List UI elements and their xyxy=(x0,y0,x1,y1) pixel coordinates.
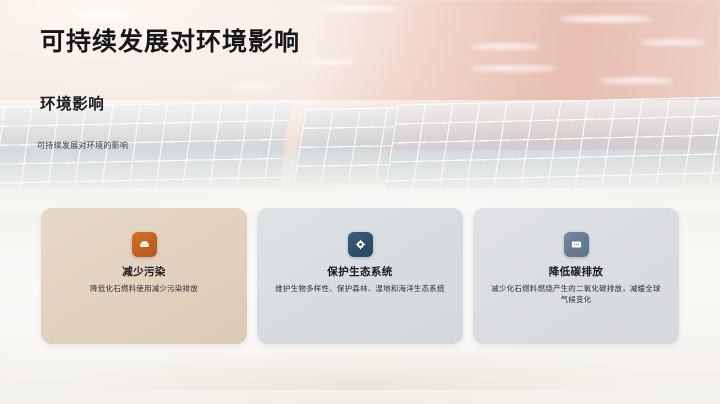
section-heading: 环境影响 xyxy=(40,92,104,114)
card-title: 保护生态系统 xyxy=(327,266,392,279)
panel-sheen-overlay xyxy=(0,100,720,140)
cloud-shape xyxy=(600,78,674,83)
message-icon xyxy=(564,232,589,257)
feature-card-protect-ecosystem[interactable]: 保护生态系统 维护生物多样性、保护森林、湿地和海洋生态系统 xyxy=(257,208,463,344)
cloud-shape xyxy=(640,40,706,45)
cloud-shape xyxy=(72,12,136,18)
cloud-shape xyxy=(560,16,652,22)
cloud-shape xyxy=(228,84,280,88)
cloud-shape xyxy=(470,66,556,71)
feature-card-list: 减少污染 降低化石燃料使用减少污染排放 保护生态系统 维护生物多样性、保护森林、… xyxy=(41,208,679,344)
card-description: 降低化石燃料使用减少污染排放 xyxy=(90,283,198,295)
cloud-shape xyxy=(318,6,398,11)
card-description: 减少化石燃料燃烧产生的二氧化碳排放，减缓全球气候变化 xyxy=(491,283,661,306)
feature-card-reduce-carbon[interactable]: 降低碳排放 减少化石燃料燃烧产生的二氧化碳排放，减缓全球气候变化 xyxy=(473,208,679,344)
sofa-icon xyxy=(132,232,157,257)
dune-highlight xyxy=(0,372,720,404)
section-subtitle: 可持续发展对环境的影响 xyxy=(37,140,128,151)
cloud-shape xyxy=(470,44,540,49)
presentation-slide: 可持续发展对环境影响 环境影响 可持续发展对环境的影响 减少污染 降低化石燃料使… xyxy=(0,0,720,404)
cloud-shape xyxy=(300,60,358,64)
page-title: 可持续发展对环境影响 xyxy=(40,22,300,58)
aperture-icon xyxy=(348,232,373,257)
card-description: 维护生物多样性、保护森林、湿地和海洋生态系统 xyxy=(275,283,444,295)
card-title: 减少污染 xyxy=(122,266,166,279)
feature-card-reduce-pollution[interactable]: 减少污染 降低化石燃料使用减少污染排放 xyxy=(41,208,247,344)
card-title: 降低碳排放 xyxy=(549,266,604,279)
